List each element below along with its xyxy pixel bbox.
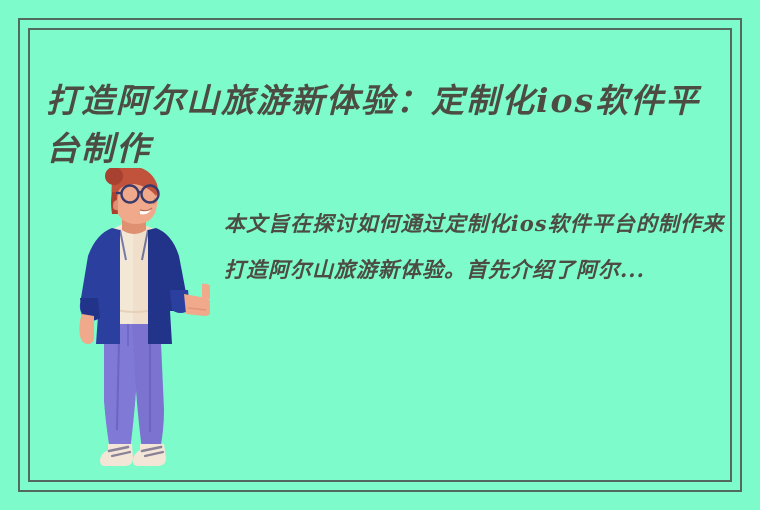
shoes-shape: [100, 444, 166, 466]
left-hand-shape: [79, 314, 94, 344]
right-hand-shape: [184, 284, 210, 316]
page-title: 打造阿尔山旅游新体验：定制化ios软件平台制作: [46, 77, 718, 173]
article-preview-card: 打造阿尔山旅游新体验：定制化ios软件平台制作: [0, 0, 760, 510]
article-summary: 本文旨在探讨如何通过定制化ios软件平台的制作来打造阿尔山旅游新体验。首先介绍了…: [224, 201, 724, 293]
head-shape: [105, 168, 158, 224]
person-illustration: [60, 168, 210, 480]
